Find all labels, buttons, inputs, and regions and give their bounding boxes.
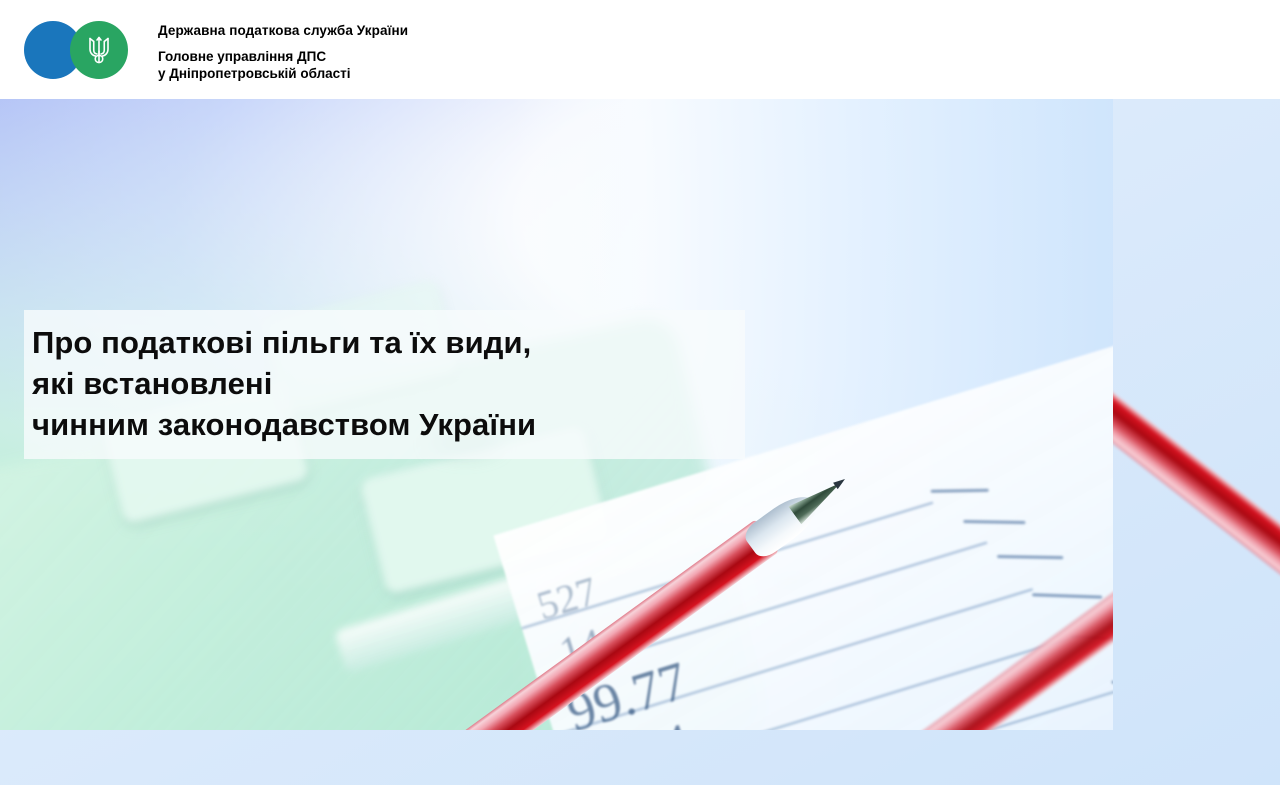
logo-green-circle-icon	[70, 21, 128, 79]
dps-logo[interactable]	[24, 14, 152, 86]
brand-text-block: Державна податкова служба України Головн…	[158, 14, 408, 82]
hero-title-line-2: які встановлені	[32, 363, 745, 404]
site-header: Державна податкова служба України Головн…	[0, 0, 1280, 99]
hero-title-line-1: Про податкові пільги та їх види,	[32, 322, 745, 363]
brand-block[interactable]: Державна податкова служба України Головн…	[24, 14, 408, 86]
department-name-line-2: у Дніпропетровській області	[158, 65, 408, 82]
page-root: Державна податкова служба України Головн…	[0, 0, 1280, 785]
hero-title-line-3: чинним законодавством України	[32, 404, 745, 445]
department-name-line-1: Головне управління ДПС	[158, 48, 408, 65]
hero-bottom-right-notch	[1113, 730, 1280, 785]
hero-title-overlay: Про податкові пільги та їх види, які вст…	[24, 310, 745, 459]
hero-right-seam	[1113, 99, 1280, 730]
ukraine-trident-icon	[86, 34, 112, 66]
organization-name: Державна податкова служба України	[158, 21, 408, 40]
hero-banner: 527 14.11 99.77 89.44 1,500.00 1,100.00 …	[0, 99, 1280, 785]
